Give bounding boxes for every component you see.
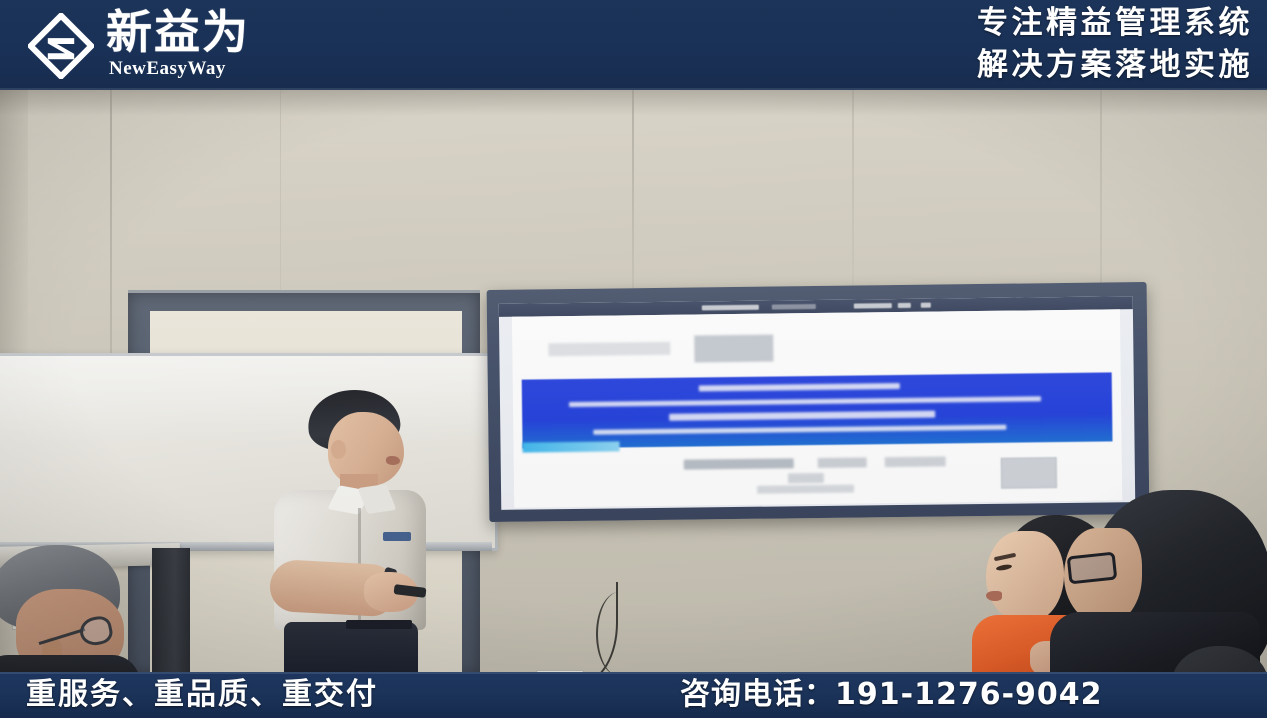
toolbar-chip (702, 305, 759, 311)
attendee-shoulder (0, 655, 140, 672)
brand-name-en: NewEasyWay (109, 58, 226, 79)
foreground-attendee (0, 545, 160, 672)
wall-seam (852, 90, 854, 290)
footer-tagline: 重服务、重品质、重交付 (26, 675, 378, 715)
presenter-pocket-logo (383, 532, 411, 541)
presenter-mouth (386, 456, 400, 465)
brand-logo-text: 新益为 NewEasyWay (106, 6, 331, 86)
doc-line (593, 425, 1006, 436)
toolbar-chip (771, 304, 815, 310)
presenter-trousers (284, 622, 418, 672)
header-bar: 新益为 NewEasyWay 专注精益管理系统 解决方案落地实施 (0, 0, 1267, 90)
doc-accent-bar (522, 441, 619, 452)
doc-footer-line (684, 458, 794, 469)
toolbar-chip (854, 303, 892, 308)
header-slogan: 专注精益管理系统 解决方案落地实施 (833, 2, 1253, 88)
presenter-ear (331, 440, 346, 459)
doc-highlight-banner (522, 372, 1113, 448)
brand-name-cn: 新益为 (106, 7, 250, 57)
brand-logo[interactable]: 新益为 NewEasyWay (22, 4, 332, 88)
attendee-mouth (986, 591, 1002, 601)
doc-line (670, 411, 936, 420)
toolbar-chip (920, 303, 930, 308)
doc-footer-line (818, 458, 867, 468)
slide-document (512, 309, 1123, 507)
toolbar-chip (898, 303, 911, 308)
attendee-glasses-lens (1067, 552, 1118, 585)
doc-line (569, 396, 1041, 407)
footer-bar: 重服务、重品质、重交付 咨询电话：191-1276-9042 (0, 672, 1267, 718)
presenter-belt (346, 620, 412, 629)
slogan-line-2: 解决方案落地实施 (833, 44, 1253, 86)
wall-display (487, 282, 1150, 522)
attendee-face (986, 531, 1064, 623)
hanging-cable (596, 592, 642, 672)
newEasyWay-diamond-logo-icon (28, 13, 94, 79)
doc-footer-line (757, 484, 854, 493)
training-photo (0, 90, 1267, 672)
attendee-far-right-figure (1172, 646, 1267, 672)
doc-footer-line (787, 473, 824, 483)
doc-line (699, 383, 900, 392)
attendee-head (1172, 646, 1267, 672)
doc-stamp-box (1000, 457, 1057, 488)
doc-text-block (694, 335, 773, 363)
presenter-figure (236, 390, 446, 672)
attendee-dark-figure (1060, 490, 1267, 672)
footer-contact-phone[interactable]: 咨询电话：191-1276-9042 (680, 675, 1103, 715)
wall-seam (632, 90, 634, 305)
doc-footer-line (885, 457, 946, 467)
slogan-line-1: 专注精益管理系统 (833, 2, 1253, 44)
doc-text-block (548, 342, 670, 357)
promo-banner-page: 新益为 NewEasyWay 专注精益管理系统 解决方案落地实施 (0, 0, 1267, 718)
display-screen (499, 296, 1135, 510)
